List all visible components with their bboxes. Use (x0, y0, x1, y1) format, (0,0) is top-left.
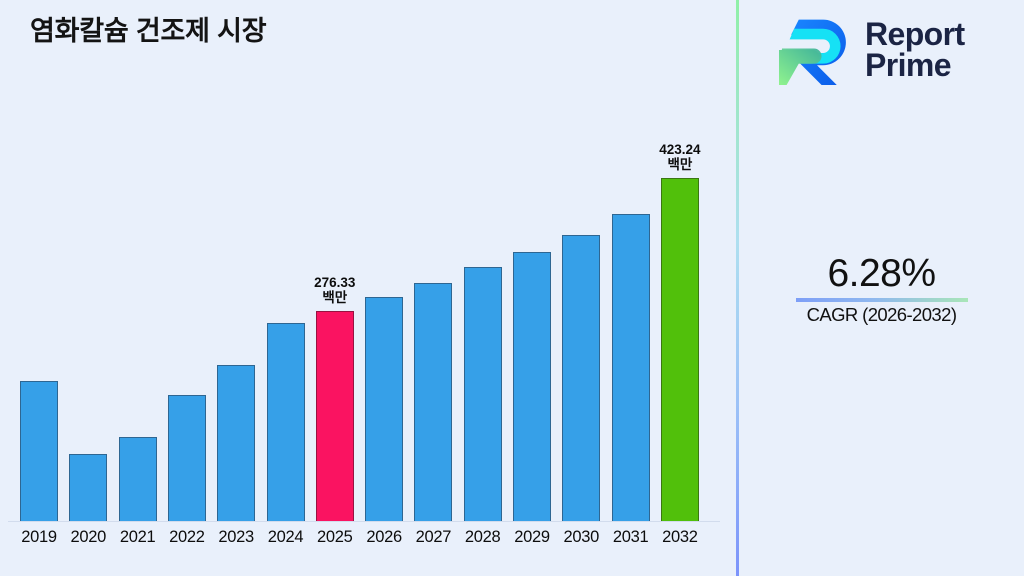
bar-group-2025: 276.33백만 (316, 120, 354, 521)
bar-2029 (513, 252, 551, 521)
bar-2022 (168, 395, 206, 521)
x-tick-2026: 2026 (365, 528, 403, 547)
bar-value-2032: 423.24 (659, 142, 700, 157)
cagr-divider-rule (796, 298, 968, 302)
bar-group-2022 (168, 120, 206, 521)
bar-group-2020 (69, 120, 107, 521)
brand-lockup: Report Prime (779, 10, 965, 90)
x-tick-2032: 2032 (661, 528, 699, 547)
bar-2031 (612, 214, 650, 521)
cagr-value: 6.28% (739, 253, 1024, 294)
bar-2020 (69, 454, 107, 521)
bar-2030 (562, 235, 600, 521)
page-title: 염화칼슘 건조제 시장 (30, 9, 266, 48)
bar-unit-2032: 백만 (659, 157, 700, 172)
bar-2025 (316, 311, 354, 521)
bar-group-2030 (562, 120, 600, 521)
x-tick-2025: 2025 (316, 528, 354, 547)
bar-2019 (20, 381, 58, 521)
bar-value-2025: 276.33 (314, 275, 355, 290)
bar-2028 (464, 267, 502, 521)
cagr-caption: CAGR (2026-2032) (739, 304, 1024, 326)
x-tick-2030: 2030 (562, 528, 600, 547)
bar-group-2029 (513, 120, 551, 521)
bar-group-2021 (119, 120, 157, 521)
brand-name-line-2: Prime (865, 50, 965, 81)
x-tick-2021: 2021 (119, 528, 157, 547)
report-prime-logo-icon (779, 10, 855, 90)
bar-chart-plot-area: 276.33백만423.24백만 (0, 120, 737, 522)
bar-value-label-2025: 276.33백만 (314, 275, 355, 305)
bar-2032 (661, 178, 699, 521)
x-tick-2019: 2019 (20, 528, 58, 547)
bar-group-2019 (20, 120, 58, 521)
x-tick-2029: 2029 (513, 528, 551, 547)
bar-2024 (267, 323, 305, 521)
bar-group-2023 (217, 120, 255, 521)
x-tick-2020: 2020 (69, 528, 107, 547)
x-tick-2031: 2031 (612, 528, 650, 547)
brand-wordmark: Report Prime (865, 19, 965, 82)
bar-2026 (365, 297, 403, 521)
cagr-block: 6.28% CAGR (2026-2032) (739, 253, 1024, 326)
bar-2023 (217, 365, 255, 521)
bar-2021 (119, 437, 157, 521)
bar-group-2028 (464, 120, 502, 521)
bar-group-2026 (365, 120, 403, 521)
infographic-canvas: 염화칼슘 건조제 시장 276.33백만423.24백만 20192020202… (0, 0, 1024, 576)
x-tick-2023: 2023 (217, 528, 255, 547)
x-axis-tick-labels: 2019202020212022202320242025202620272028… (0, 528, 737, 556)
x-axis-line (8, 521, 720, 522)
bar-group-2024 (267, 120, 305, 521)
chart-panel: 염화칼슘 건조제 시장 276.33백만423.24백만 20192020202… (0, 0, 737, 576)
bar-group-2027 (414, 120, 452, 521)
bar-value-label-2032: 423.24백만 (659, 142, 700, 172)
x-tick-2024: 2024 (267, 528, 305, 547)
x-tick-2022: 2022 (168, 528, 206, 547)
x-tick-2028: 2028 (464, 528, 502, 547)
bar-group-2031 (612, 120, 650, 521)
bar-2027 (414, 283, 452, 521)
x-tick-2027: 2027 (414, 528, 452, 547)
bar-group-2032: 423.24백만 (661, 120, 699, 521)
side-panel: Report Prime 6.28% CAGR (2026-2032) (739, 0, 1024, 576)
bar-unit-2025: 백만 (314, 290, 355, 305)
